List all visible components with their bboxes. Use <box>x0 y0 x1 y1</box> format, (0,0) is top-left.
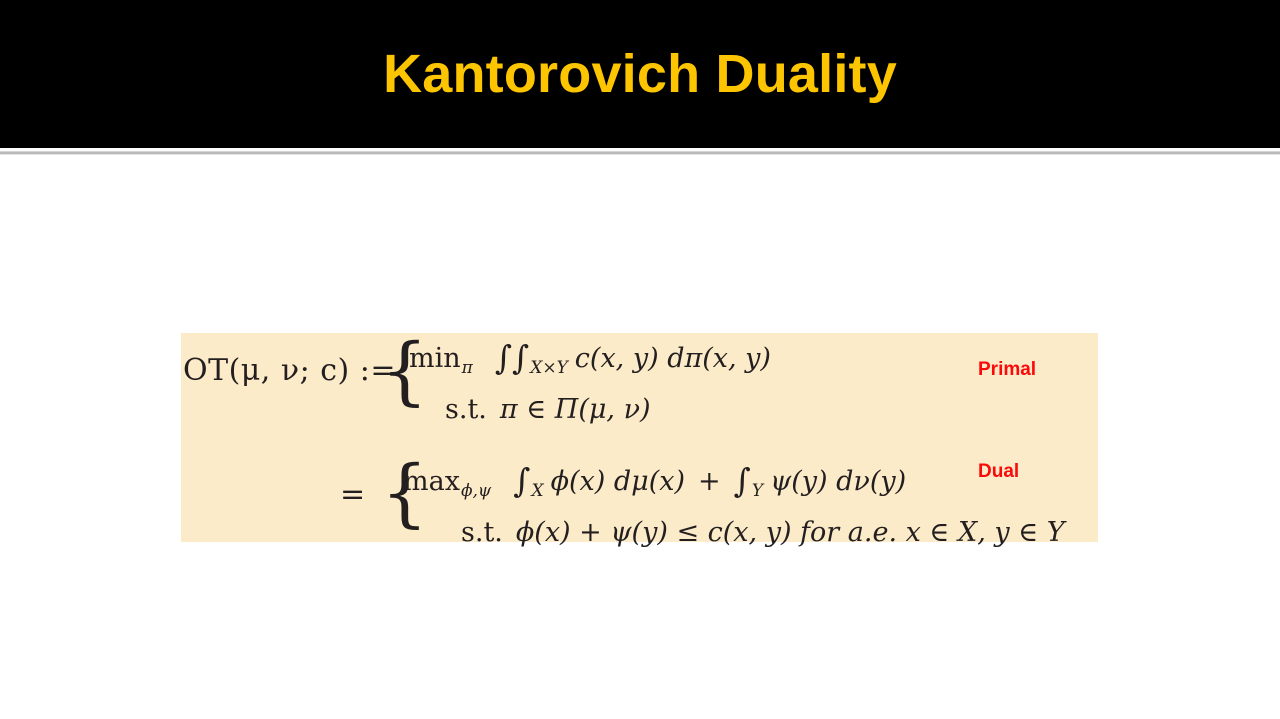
dual-plus-sign: + <box>698 466 721 497</box>
dual-objective-body-1: ϕ(x) dμ(x) <box>551 466 685 497</box>
primal-formula-block: OT(μ, ν; c) := { minπ∫∫X×Yc(x, y) dπ(x, … <box>181 333 1098 433</box>
dual-constraint-line: s.t.ϕ(x) + ψ(y) ≤ c(x, y) for a.e. x ∈ X… <box>403 512 1103 553</box>
dual-equals-sign: = <box>340 477 365 512</box>
page-title: Kantorovich Duality <box>383 47 897 101</box>
primal-objective-body: c(x, y) dπ(x, y) <box>575 343 771 374</box>
primal-min-operator: min <box>409 343 461 374</box>
dual-formula-block: = { maxϕ,ψ∫Xϕ(x) dμ(x)+∫Yψ(y) dν(y) s.t.… <box>181 456 1098 542</box>
dual-constraint-body: ϕ(x) + ψ(y) ≤ c(x, y) for a.e. x ∈ X, y … <box>516 517 1065 548</box>
dual-tag-label: Dual <box>978 461 1019 483</box>
primal-double-integral: ∫∫ <box>495 338 529 377</box>
formula-highlight-panel: OT(μ, ν; c) := { minπ∫∫X×Yc(x, y) dπ(x, … <box>181 333 1098 542</box>
dual-integral-1-domain: X <box>530 481 543 501</box>
dual-max-subscript: ϕ,ψ <box>460 481 491 501</box>
dual-integral-2-domain: Y <box>751 481 763 501</box>
dual-objective-body-2: ψ(y) dν(y) <box>770 466 906 497</box>
primal-integral-domain: X×Y <box>529 358 568 378</box>
dual-integral-2: ∫ <box>734 461 751 500</box>
dual-integral-1: ∫ <box>513 461 530 500</box>
dual-subject-to-label: s.t. <box>461 517 503 548</box>
primal-tag-label: Primal <box>978 359 1036 381</box>
primal-constraint-body: π ∈ Π(μ, ν) <box>500 394 651 425</box>
primal-equation-lines: minπ∫∫X×Yc(x, y) dπ(x, y) s.t.π ∈ Π(μ, ν… <box>409 335 1069 430</box>
header-divider <box>0 151 1280 155</box>
primal-lhs: OT(μ, ν; c) := <box>183 353 396 388</box>
dual-max-operator: max <box>403 466 460 497</box>
primal-min-subscript: π <box>461 358 473 378</box>
primal-subject-to-label: s.t. <box>445 394 487 425</box>
primal-constraint-line: s.t.π ∈ Π(μ, ν) <box>409 389 1069 430</box>
slide-header: Kantorovich Duality <box>0 0 1280 148</box>
primal-objective-line: minπ∫∫X×Yc(x, y) dπ(x, y) <box>409 335 1069 389</box>
